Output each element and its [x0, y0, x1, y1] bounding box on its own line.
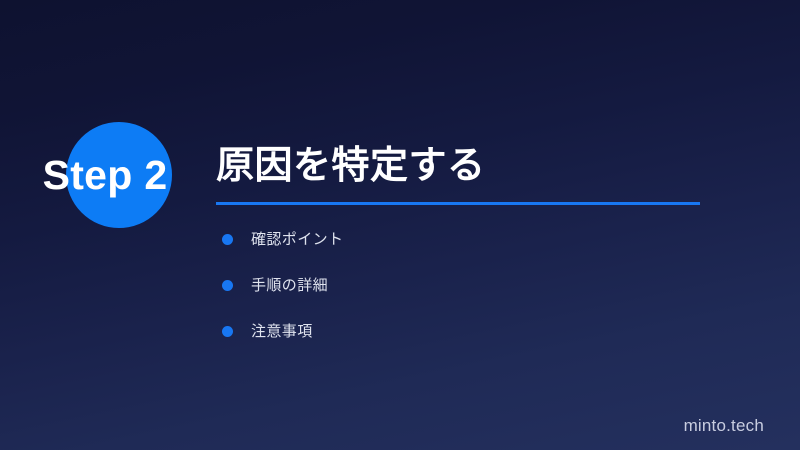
slide-canvas: Step 2 原因を特定する 確認ポイント 手順の詳細 注意事項 minto.t… [0, 0, 800, 450]
list-item-label: 手順の詳細 [251, 278, 328, 293]
list-item: 手順の詳細 [216, 274, 716, 297]
list-item: 注意事項 [216, 320, 716, 343]
list-item-label: 注意事項 [251, 324, 313, 339]
step-label: Step 2 [0, 122, 210, 228]
watermark: minto.tech [684, 417, 764, 434]
title-divider [216, 202, 700, 205]
bullet-dot-icon [222, 234, 233, 245]
list-item-label: 確認ポイント [251, 232, 343, 247]
list-item: 確認ポイント [216, 228, 716, 251]
content-column: 原因を特定する 確認ポイント 手順の詳細 注意事項 [216, 142, 716, 343]
step-badge: Step 2 [0, 110, 210, 240]
bullet-dot-icon [222, 280, 233, 291]
bullet-dot-icon [222, 326, 233, 337]
page-title: 原因を特定する [216, 142, 716, 191]
bullet-list: 確認ポイント 手順の詳細 注意事項 [216, 228, 716, 343]
